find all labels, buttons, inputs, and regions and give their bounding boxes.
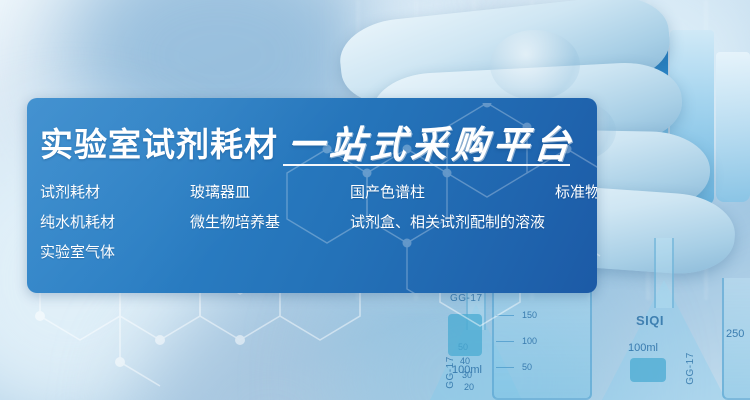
category-item[interactable]: 国产色谱柱 [350, 184, 555, 202]
category-item[interactable]: 纯水机耗材 [40, 214, 190, 232]
headline-underline [283, 164, 570, 166]
lab-reagent-banner: 8.0 ml 0.1 50 40 30 20 GG-17 [0, 0, 750, 400]
page-title: 实验室试剂耗材 [40, 126, 278, 164]
category-item[interactable]: 标准物质 [555, 184, 597, 202]
knuckle-highlight [490, 30, 580, 100]
page-subtitle-brush: 一站式采购平台 [286, 125, 576, 165]
category-item[interactable]: 试剂盒、相关试剂配制的溶液 [350, 214, 597, 232]
category-list: 试剂耗材 玻璃器皿 国产色谱柱 标准物质 纯水机耗材 微生物培养基 试剂盒、相关… [27, 184, 597, 262]
headline-row: 实验室试剂耗材 一站式采购平台 [40, 116, 597, 164]
category-item[interactable]: 玻璃器皿 [190, 184, 350, 202]
category-item[interactable]: 试剂耗材 [40, 184, 190, 202]
promo-panel: 实验室试剂耗材 一站式采购平台 试剂耗材 玻璃器皿 国产色谱柱 标准物质 纯水机… [27, 98, 597, 293]
category-item[interactable]: 微生物培养基 [190, 214, 350, 232]
panel-content: 实验室试剂耗材 一站式采购平台 [27, 98, 597, 164]
category-item[interactable]: 实验室气体 [40, 244, 190, 262]
